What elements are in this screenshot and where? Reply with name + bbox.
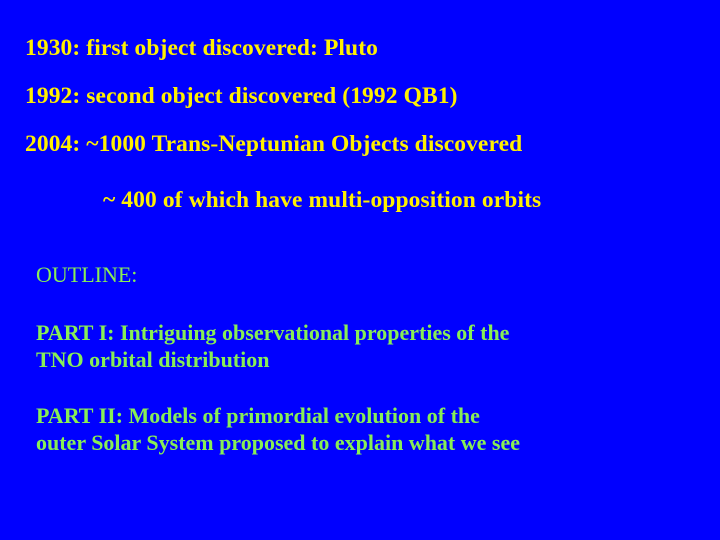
timeline-fact-multi-opposition: ~ 400 of which have multi-opposition orb… xyxy=(103,187,541,213)
outline-item-part-2: PART II: Models of primordial evolution … xyxy=(36,402,676,456)
timeline-fact-1992: 1992: second object discovered (1992 QB1… xyxy=(25,83,458,109)
presentation-slide: 1930: first object discovered: Pluto 199… xyxy=(0,0,720,540)
outline-item-part-1: PART I: Intriguing observational propert… xyxy=(36,319,676,373)
outline-heading: OUTLINE: xyxy=(36,262,137,287)
timeline-fact-2004: 2004: ~1000 Trans-Neptunian Objects disc… xyxy=(25,131,522,157)
timeline-fact-1930: 1930: first object discovered: Pluto xyxy=(25,35,378,61)
